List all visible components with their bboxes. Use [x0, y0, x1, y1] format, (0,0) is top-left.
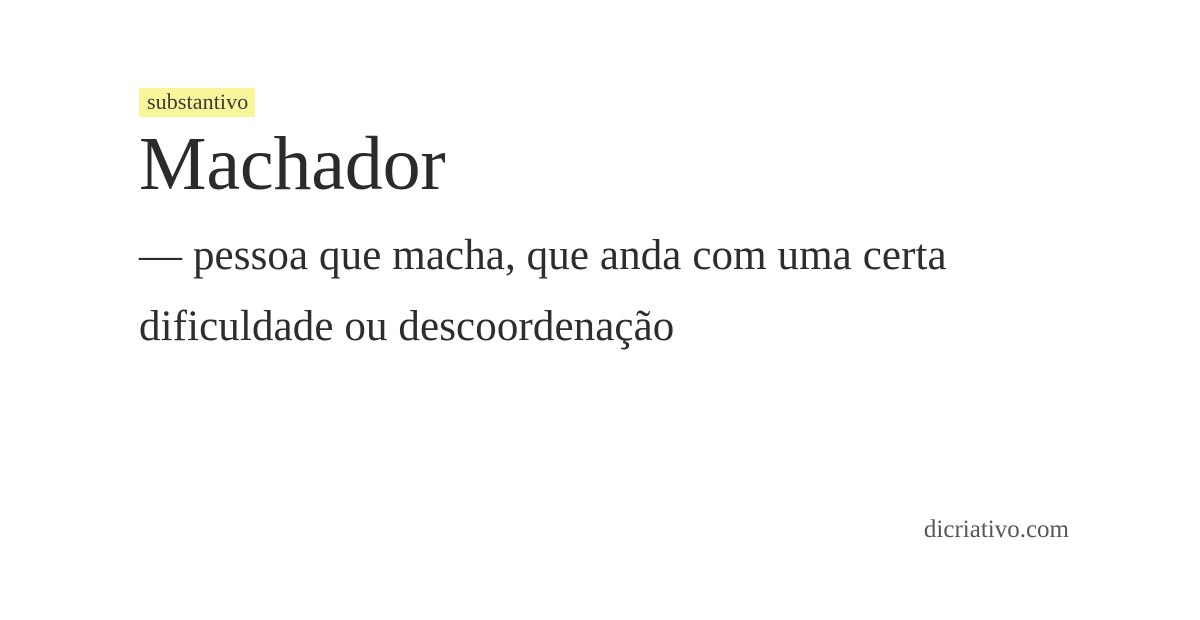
part-of-speech-badge: substantivo: [139, 88, 255, 117]
part-of-speech-row: substantivo: [139, 88, 1089, 117]
source-attribution: dicriativo.com: [924, 515, 1069, 545]
entry-block: substantivo Machador — pessoa que macha,…: [139, 88, 1089, 362]
definition-text: — pessoa que macha, que anda com uma cer…: [139, 220, 1069, 362]
dictionary-entry-card: substantivo Machador — pessoa que macha,…: [0, 0, 1200, 620]
page-title: Machador: [139, 121, 1089, 207]
